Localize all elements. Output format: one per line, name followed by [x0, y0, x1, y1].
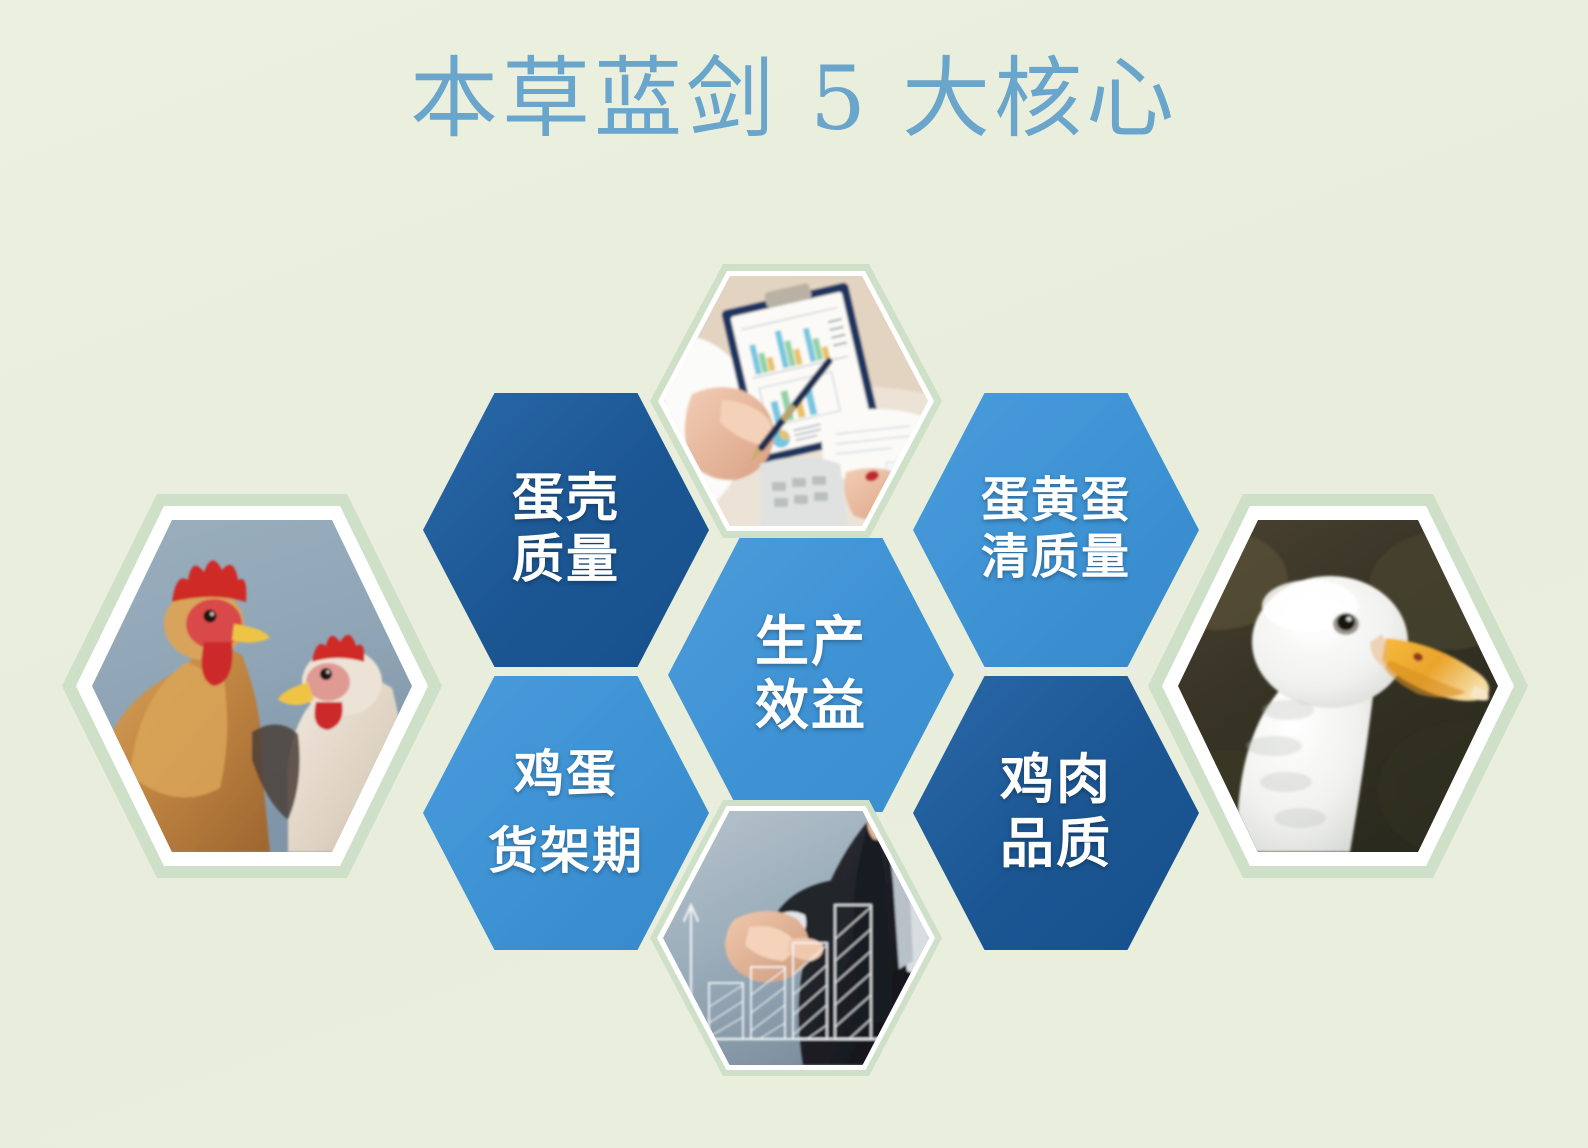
node-egg-shelf-life-label: 鸡蛋 货架期 — [482, 736, 650, 891]
label-line-1: 蛋壳 — [512, 469, 620, 530]
label-line-2: 清质量 — [981, 530, 1131, 587]
node-yolk-albumen-quality-label: 蛋黄蛋 清质量 — [975, 473, 1137, 586]
node-yolk-albumen-quality[interactable]: 蛋黄蛋 清质量 — [913, 393, 1199, 667]
node-chicken-meat-quality[interactable]: 鸡肉 品质 — [913, 676, 1199, 950]
center-node-production-efficiency[interactable]: 生产 效益 — [668, 538, 954, 812]
node-chicken-meat-quality-label: 鸡肉 品质 — [994, 749, 1118, 876]
label-line-2: 货架期 — [488, 813, 644, 891]
label-line-1: 生产 — [755, 611, 867, 675]
node-eggshell-quality-label: 蛋壳 质量 — [506, 469, 626, 592]
center-node-label: 生产 效益 — [749, 611, 873, 738]
label-line-1: 鸡蛋 — [488, 736, 644, 814]
label-line-1: 蛋黄蛋 — [981, 473, 1131, 530]
label-line-2: 品质 — [1000, 813, 1112, 877]
hexagon-cluster: 蛋壳 质量 蛋黄蛋 清质量 生产 效益 鸡蛋 货架期 鸡肉 品质 — [0, 0, 1588, 1148]
label-line-2: 效益 — [755, 675, 867, 739]
label-line-2: 质量 — [512, 530, 620, 591]
node-eggshell-quality[interactable]: 蛋壳 质量 — [423, 393, 709, 667]
label-line-1: 鸡肉 — [1000, 749, 1112, 813]
